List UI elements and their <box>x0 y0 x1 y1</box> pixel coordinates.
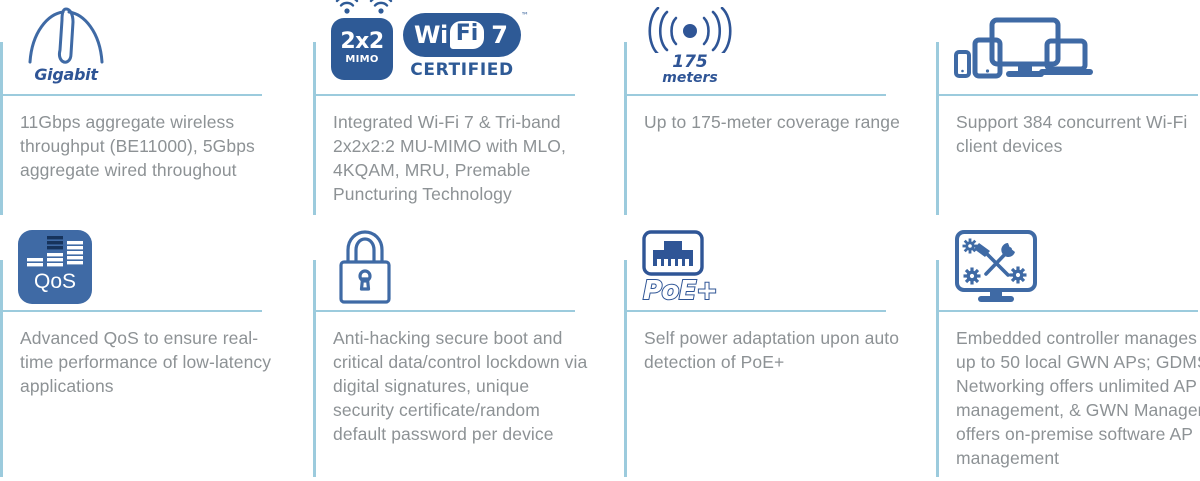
mimo-badge: 2x2 MIMO <box>331 18 393 80</box>
horizontal-divider <box>0 310 262 312</box>
feature-card-poe: PoE+ Self power adaptation upon auto det… <box>624 216 914 481</box>
feature-card-qos: QoS Advanced QoS to ensure real-time per… <box>0 216 290 481</box>
trademark-symbol: ™ <box>521 11 529 20</box>
padlock-icon <box>331 229 399 305</box>
mimo-value: 2x2 <box>340 31 383 53</box>
qos-icon-label: QoS <box>34 271 76 293</box>
feature-description: Anti-hacking secure boot and critical da… <box>333 326 595 446</box>
feature-description: Integrated Wi-Fi 7 & Tri-band 2x2x2:2 MU… <box>333 110 595 206</box>
horizontal-divider <box>313 310 575 312</box>
gear-icon <box>1006 263 1030 287</box>
antenna-icons <box>335 0 393 16</box>
vertical-divider <box>313 260 316 477</box>
feature-card-wifi7: 2x2 MIMO Wi Fi 7 ™ CERTIFIED Integrated … <box>313 0 603 215</box>
wifi-antenna-icon <box>369 0 393 16</box>
horizontal-divider <box>313 94 575 96</box>
gear-icon <box>959 235 980 256</box>
feature-grid: Gigabit 11Gbps aggregate wireless throug… <box>0 0 1200 481</box>
feature-card-clients: Support 384 concurrent Wi-Fi client devi… <box>936 0 1200 215</box>
vertical-divider <box>624 260 627 477</box>
coverage-range-unit: meters <box>642 71 738 86</box>
icon-area <box>954 226 1038 308</box>
horizontal-divider <box>936 310 1198 312</box>
feature-description: Self power adaptation upon auto detectio… <box>644 326 906 374</box>
wifi-antenna-icon <box>335 0 359 16</box>
poe-icon-label: PoE+ <box>643 277 738 305</box>
icon-area: 2x2 MIMO Wi Fi 7 ™ CERTIFIED <box>331 0 521 92</box>
vertical-divider <box>0 260 3 477</box>
feature-description: 11Gbps aggregate wireless throughput (BE… <box>20 110 282 182</box>
embedded-controller-icon <box>954 229 1038 305</box>
equalizer-bars-icon <box>26 236 84 270</box>
coverage-range-icon: 175 meters <box>642 7 738 86</box>
icon-area: Gigabit <box>18 0 114 92</box>
icon-area <box>954 0 1094 92</box>
wifi-certified-text: CERTIFIED <box>403 60 521 80</box>
feature-card-security: Anti-hacking secure boot and critical da… <box>313 216 603 481</box>
wifi-generation: 7 <box>491 21 508 49</box>
vertical-divider <box>624 42 627 215</box>
wifi-fi-bubble: Fi <box>450 21 485 49</box>
vertical-divider <box>936 260 939 477</box>
vertical-divider <box>313 42 316 215</box>
horizontal-divider <box>0 94 262 96</box>
gigabit-icon-label: Gigabit <box>18 65 114 84</box>
horizontal-divider <box>624 94 886 96</box>
feature-card-coverage: 175 meters Up to 175-meter coverage rang… <box>624 0 914 215</box>
gigabit-icon: Gigabit <box>18 6 114 86</box>
feature-card-gigabit: Gigabit 11Gbps aggregate wireless throug… <box>0 0 290 215</box>
wifi-pill: Wi Fi 7 ™ <box>403 13 521 57</box>
feature-description: Embedded controller manages up to 50 loc… <box>956 326 1200 470</box>
vertical-divider <box>0 42 3 215</box>
mimo-label: MIMO <box>345 54 378 66</box>
wifi-certified-logo: Wi Fi 7 ™ CERTIFIED <box>403 13 521 80</box>
horizontal-divider <box>624 310 886 312</box>
multi-device-icon <box>954 10 1094 82</box>
wifi-wi-text: Wi <box>414 21 448 49</box>
broadcast-signal-icon <box>642 7 738 53</box>
icon-area <box>331 226 399 308</box>
feature-description: Advanced QoS to ensure real-time perform… <box>20 326 282 398</box>
coverage-range-value: 175 <box>642 54 738 71</box>
horizontal-divider <box>936 94 1198 96</box>
icon-area: PoE+ <box>642 226 738 308</box>
wifi-7-certified-icon: 2x2 MIMO Wi Fi 7 ™ CERTIFIED <box>331 13 521 80</box>
vertical-divider <box>936 42 939 215</box>
feature-description: Support 384 concurrent Wi-Fi client devi… <box>956 110 1200 158</box>
feature-description: Up to 175-meter coverage range <box>644 110 906 134</box>
icon-area: 175 meters <box>642 0 738 92</box>
poe-plus-icon: PoE+ <box>642 230 738 305</box>
ethernet-port-icon <box>642 230 704 276</box>
gear-icon <box>960 264 984 288</box>
qos-equalizer-icon: QoS <box>18 230 92 304</box>
feature-card-controller: Embedded controller manages up to 50 loc… <box>936 216 1200 481</box>
icon-area: QoS <box>18 226 92 308</box>
